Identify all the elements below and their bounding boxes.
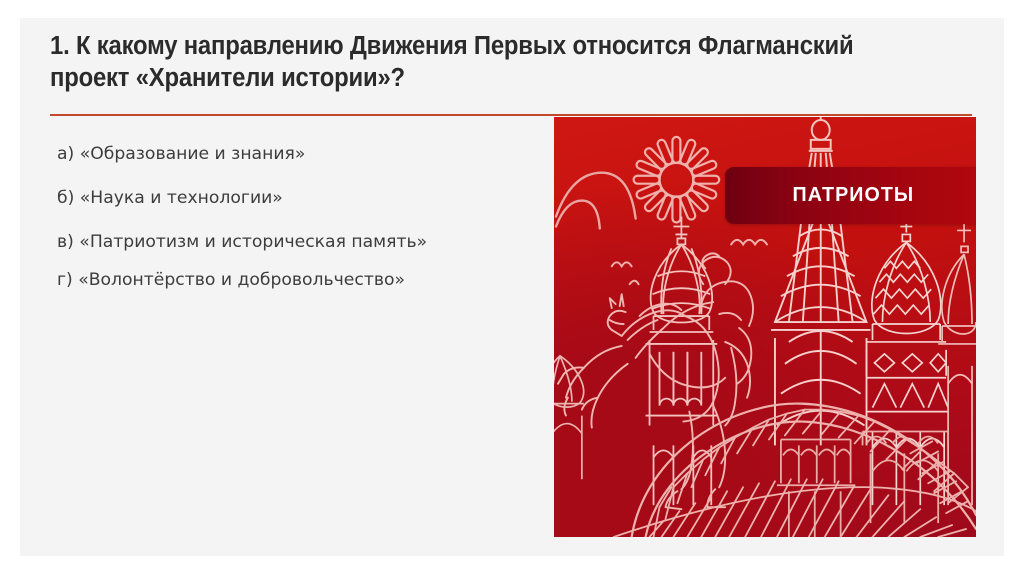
answer-option-a[interactable]: а) «Образование и знания»	[57, 146, 537, 163]
answer-option-c[interactable]: в) «Патриотизм и историческая память»	[57, 234, 537, 251]
left-edge-dome-icon	[554, 356, 584, 479]
answer-option-d[interactable]: г) «Волонтёрство и добровольчество»	[57, 272, 537, 289]
page-title: 1. К какому направлению Движения Первых …	[50, 30, 912, 94]
central-tent-tower	[771, 189, 871, 446]
wave-cloud-icon	[612, 240, 767, 284]
answer-options-list: а) «Образование и знания» б) «Наука и те…	[57, 146, 537, 289]
bridge-truss-icon	[614, 404, 976, 537]
slide-canvas: 1. К какому направлению Движения Первых …	[20, 18, 1004, 556]
illustration-canvas: ПАТРИОТЫ	[554, 117, 976, 537]
cloud-arcs-icon	[556, 173, 636, 229]
banner-label: ПАТРИОТЫ	[793, 183, 915, 207]
sun-icon	[634, 137, 720, 223]
patriots-banner: ПАТРИОТЫ	[725, 167, 976, 224]
title-block: 1. К какому направлению Движения Первых …	[50, 30, 972, 94]
patriots-illustration: ПАТРИОТЫ	[553, 116, 977, 538]
equestrian-statue-icon	[558, 253, 753, 509]
answer-option-b[interactable]: б) «Наука и технологии»	[57, 190, 537, 207]
